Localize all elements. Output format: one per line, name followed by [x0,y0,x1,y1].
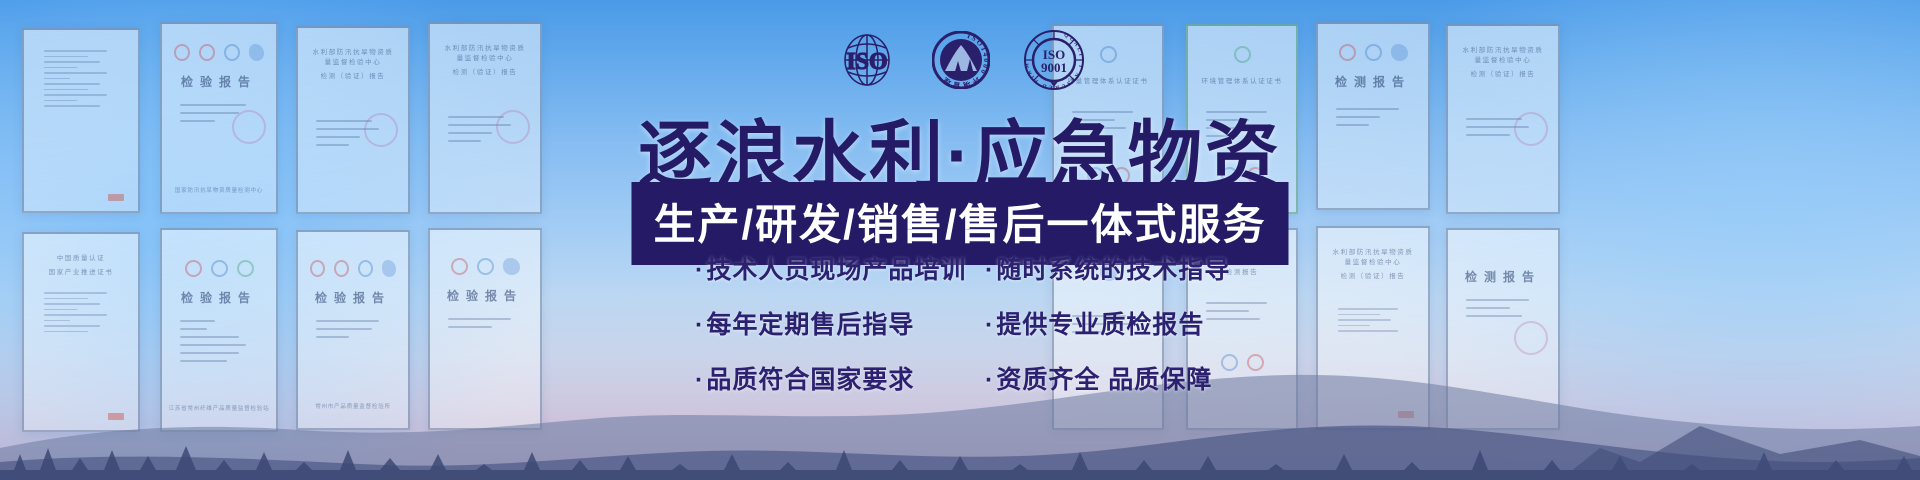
certificate-body [1330,302,1416,332]
certificate-title: 检验报告 [310,289,396,306]
feature-label: 随时系统的技术指导 [996,256,1230,284]
feature-item: ·资质齐全 品质保障 [985,360,1225,396]
watermark-icon [364,113,398,147]
iso-globe-badge: ISO [836,32,898,93]
feature-item: ·提供专业质检报告 [985,305,1225,341]
feature-item: ·随时系统的技术指导 [985,250,1225,286]
cma-seal-icon [249,44,264,61]
cnas-seal-icon [211,260,228,277]
certificate-line-2: 检测（验证）报告 [310,70,396,80]
environment-seal-icon [1234,46,1251,63]
watermark-icon [232,110,266,144]
certificate-title: 检验报告 [174,73,264,90]
feature-label: 提供专业质检报告 [996,311,1204,339]
certificate-seal-row [174,260,264,277]
certificate-card: 检验报告 国家防汛抗旱物资质量检测中心 [160,22,278,214]
certificate-line-1: 水利部防汛抗旱物资质量监督检验中心 [1330,246,1416,266]
green-seal-icon [237,260,254,277]
certificate-card: 水利部防汛抗旱物资质量监督检验中心 检测（验证）报告 [428,22,542,214]
cma-seal-icon [310,260,325,277]
cnas-seal-icon [477,258,494,275]
iso9001-line-2: 9001 [1041,60,1067,75]
cnas-seal-icon [224,44,240,61]
bullet-icon: · [985,366,994,394]
certificate-body [1330,108,1416,126]
certificate-title: 检测报告 [1460,268,1546,285]
cnas-seal-icon [358,260,373,277]
feature-label: 资质齐全 品质保障 [996,366,1212,394]
certificate-line-1: 水利部防汛抗旱物资质量监督检验中心 [310,46,396,66]
certificate-subtitle: 国家产业推进证书 [36,266,126,276]
cal-seal-icon [503,258,520,275]
watermark-icon [1514,112,1548,146]
feature-label: 品质符合国家要求 [706,366,914,394]
certificate-line-1: 水利部防汛抗旱物资质量监督检验中心 [442,42,528,62]
bullet-icon: · [695,256,704,284]
cnas-seal-icon [1100,46,1117,63]
certificate-line-2: 检测（验证）报告 [442,66,528,76]
certificate-card: 水利部防汛抗旱物资质量监督检验中心 检测（验证）报告 [296,26,410,214]
certificate-title: 环境管理体系认证证书 [1200,75,1284,85]
certification-badges: ISO ISO14000 环境管理 [836,30,1084,95]
feature-item: ·技术人员现场产品培训 [695,250,963,286]
certificate-body [442,318,528,328]
certificate-seal-row [442,258,528,275]
certificate-title: 检测报告 [1330,73,1416,90]
feature-label: 每年定期售后指导 [706,311,914,339]
certificate-title: 检验报告 [442,287,528,304]
feature-item: ·每年定期售后指导 [695,305,963,341]
certificate-body [36,286,126,332]
certificate-seal-row [310,260,396,277]
certificate-line-2: 检测（验证）报告 [1330,270,1416,280]
ccc-seal-icon [199,44,215,61]
certificate-card: 水利部防汛抗旱物资质量监督检验中心 检测（验证）报告 [1446,24,1560,214]
cal-seal-icon [382,260,396,277]
cnas-seal-icon [1365,44,1382,61]
certificate-card [22,28,140,213]
iso14000-badge: ISO14000 环境管理 [932,31,990,94]
iso-globe-icon: ISO [836,32,898,88]
bullet-icon: · [695,366,704,394]
cma-seal-icon [451,258,468,275]
certificate-seal-row [1200,46,1284,63]
bullet-icon: · [695,311,704,339]
certificate-title: 中国质量认证 [36,252,126,262]
certificate-card: 检测报告 [1316,22,1430,210]
red-stamp [108,194,124,201]
certificate-footer: 国家防汛抗旱物资质量检测中心 [162,186,276,194]
certificate-seal-row [174,44,264,61]
cqc-seal-icon [185,260,202,277]
promo-banner: 检验报告 国家防汛抗旱物资质量检测中心 水利部防汛抗旱物资质量监督检验中心 检测… [0,0,1920,480]
certificate-seal-row [1330,44,1416,61]
cma-seal-icon [1339,44,1356,61]
certificate-title: 检验报告 [174,289,264,306]
iso9001-seal-icon: ISO 9001 QUALITY ASSURED FIRM [1024,30,1084,90]
iso-globe-label: ISO [846,49,887,75]
iso14000-seal-icon: ISO14000 环境管理 [932,31,990,89]
certificate-body [36,44,126,107]
bullet-icon: · [985,311,994,339]
feature-list: ·技术人员现场产品培训 ·随时系统的技术指导 ·每年定期售后指导 ·提供专业质检… [695,250,1225,396]
certificate-line-1: 水利部防汛抗旱物资质量监督检验中心 [1460,44,1546,64]
certificate-line-2: 检测（验证）报告 [1460,68,1546,78]
certificate-body [1460,299,1546,317]
feature-item: ·品质符合国家要求 [695,360,963,396]
bullet-icon: · [985,256,994,284]
feature-label: 技术人员现场产品培训 [706,256,966,284]
cal-seal-icon [1391,44,1408,61]
iso9001-badge: ISO 9001 QUALITY ASSURED FIRM [1024,30,1084,95]
ccc-seal-icon [334,260,349,277]
cqc-seal-icon [174,44,190,61]
